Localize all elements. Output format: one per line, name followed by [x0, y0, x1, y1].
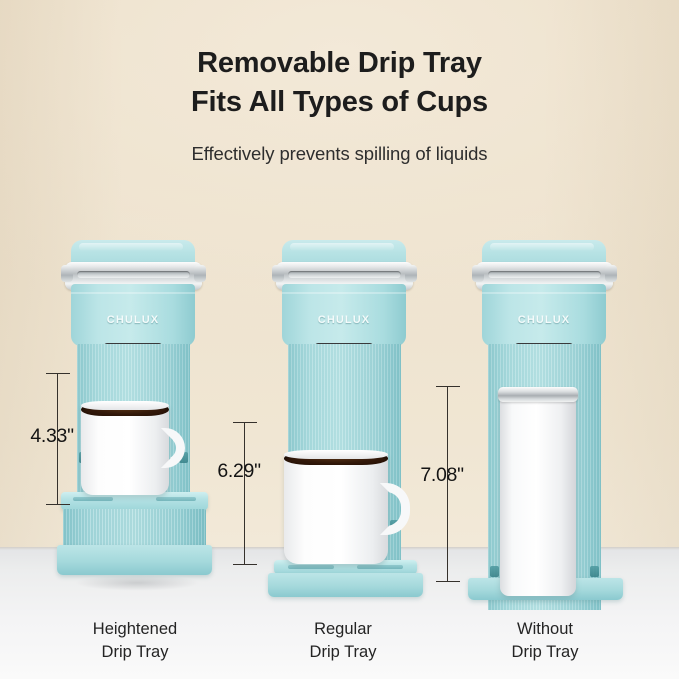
machine-base-foot: [57, 545, 212, 575]
unit-floor-shadow: [51, 574, 223, 596]
mug-rim: [81, 401, 169, 410]
lid-hinge-left: [272, 265, 284, 282]
dimension-value: 6.29": [191, 460, 287, 483]
tumbler-lid: [498, 387, 578, 402]
caption-line-1: Heightened: [42, 618, 228, 641]
dimension-tick-bottom: [46, 504, 70, 505]
page-headline: Removable Drip Tray Fits All Types of Cu…: [0, 44, 679, 121]
page-subheadline: Effectively prevents spilling of liquids: [0, 143, 679, 165]
lid-hinge-left: [61, 265, 73, 282]
tray-drain-slot: [73, 497, 113, 501]
dimension-tick-bottom: [233, 564, 257, 565]
lid-hinge-right: [405, 265, 417, 282]
lid-hinge-right: [194, 265, 206, 282]
column-slot-left: [490, 566, 499, 577]
caption-without: Without Drip Tray: [452, 618, 638, 665]
caption-line-1: Without: [452, 618, 638, 641]
headline-line-1: Removable Drip Tray: [0, 44, 679, 83]
brand-logo: CHULUX: [71, 314, 195, 326]
machine-head: CHULUX: [282, 284, 406, 346]
coffee-maker-without-tray: CHULUX: [468, 240, 626, 590]
brand-logo-accent: X: [362, 314, 370, 326]
mug-rim: [284, 450, 388, 459]
lid-hinge-right: [605, 265, 617, 282]
tray-drain-slot: [288, 565, 334, 569]
brand-logo-accent: X: [562, 314, 570, 326]
mug-handle: [380, 483, 410, 535]
brand-logo-main: CHULU: [518, 314, 562, 326]
travel-tumbler[interactable]: [500, 396, 576, 596]
tray-riser-block: [63, 509, 206, 547]
lid-hinge-left: [472, 265, 484, 282]
coffee-mug[interactable]: [284, 452, 388, 564]
caption-line-2: Drip Tray: [452, 641, 638, 664]
caption-line-2: Drip Tray: [42, 641, 228, 664]
dimension-line: [244, 422, 245, 565]
lid-groove: [288, 271, 401, 278]
coffee-mug[interactable]: [81, 403, 169, 495]
brand-logo: CHULUX: [482, 314, 606, 326]
dimension-value: 7.08": [394, 464, 490, 487]
brand-logo-main: CHULU: [107, 314, 151, 326]
caption-line-1: Regular: [250, 618, 436, 641]
caption-regular: Regular Drip Tray: [250, 618, 436, 665]
caption-heightened: Heightened Drip Tray: [42, 618, 228, 665]
column-slot-right: [590, 566, 599, 577]
tray-drain-slot: [156, 497, 196, 501]
lid-groove: [77, 271, 190, 278]
brand-logo-accent: X: [151, 314, 159, 326]
machine-head: CHULUX: [71, 284, 195, 346]
coffee-maker-regular: CHULUX: [268, 240, 426, 590]
caption-line-2: Drip Tray: [250, 641, 436, 664]
dimension-tick-bottom: [436, 581, 460, 582]
machine-base-foot: [268, 573, 423, 597]
lid-groove: [488, 271, 601, 278]
brand-logo: CHULUX: [282, 314, 406, 326]
coffee-maker-heightened: CHULUX: [57, 240, 217, 590]
brand-logo-main: CHULU: [318, 314, 362, 326]
dimension-value: 4.33": [4, 425, 100, 448]
tray-drain-slot: [357, 565, 403, 569]
headline-line-2: Fits All Types of Cups: [0, 83, 679, 122]
machine-head: CHULUX: [482, 284, 606, 346]
